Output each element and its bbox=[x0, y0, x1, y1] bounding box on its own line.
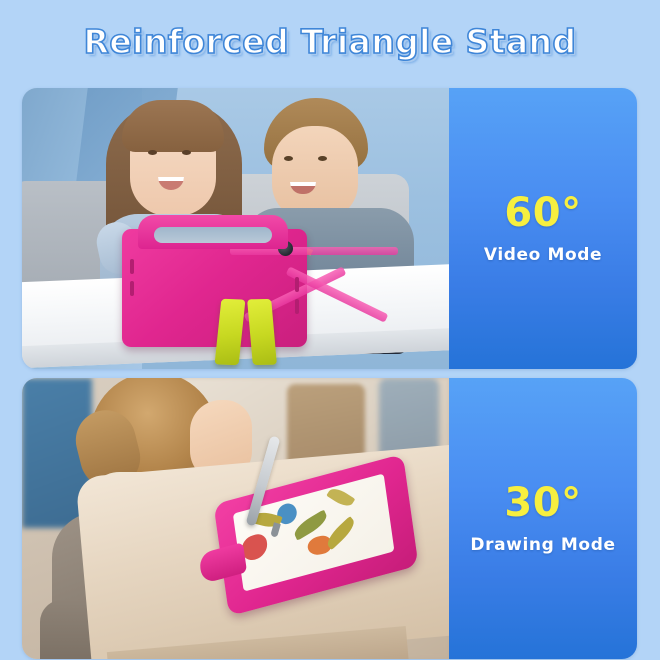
case-handle-opening bbox=[154, 227, 272, 243]
photo-video-mode bbox=[22, 88, 449, 369]
case-port-4 bbox=[295, 299, 299, 314]
label-panel-video: 60° Video Mode bbox=[449, 88, 637, 369]
drawing-leaf-4 bbox=[324, 516, 358, 550]
label-panel-drawing: 30° Drawing Mode bbox=[449, 378, 637, 659]
mode-label-video: Video Mode bbox=[484, 247, 602, 264]
girl-eye-left bbox=[148, 150, 157, 155]
feature-card-drawing[interactable]: 30° Drawing Mode bbox=[22, 378, 637, 659]
boy-eye-right bbox=[318, 156, 327, 161]
drawing-leaf-3 bbox=[326, 485, 355, 510]
photo-drawing-mode bbox=[22, 378, 449, 659]
boy-eye-left bbox=[284, 156, 293, 161]
boy-face bbox=[272, 126, 358, 220]
mode-label-drawing: Drawing Mode bbox=[470, 537, 615, 554]
case-port-1 bbox=[130, 259, 134, 274]
angle-value-video: 60° bbox=[504, 193, 581, 233]
page-title: Reinforced Triangle Stand bbox=[0, 22, 660, 61]
girl-eye-right bbox=[182, 150, 191, 155]
angle-value-drawing: 30° bbox=[504, 483, 581, 523]
case-port-2 bbox=[130, 281, 134, 296]
feature-card-video[interactable]: 60° Video Mode bbox=[22, 88, 637, 369]
girl-hair-top bbox=[122, 100, 224, 152]
case-port-3 bbox=[295, 277, 299, 292]
